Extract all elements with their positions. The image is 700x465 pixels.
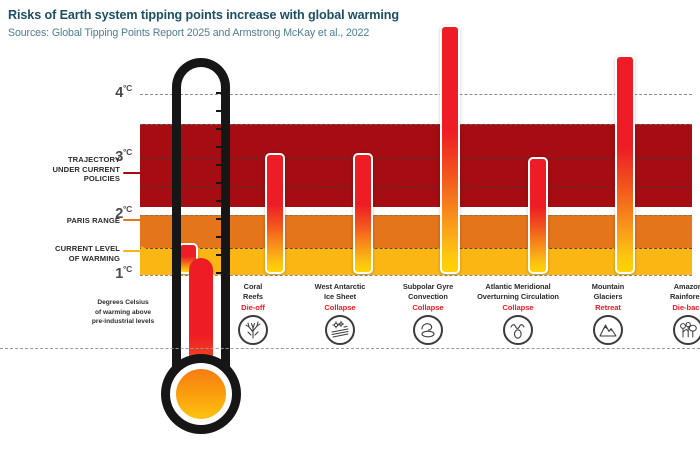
coral-icon[interactable]: [238, 315, 268, 345]
thermometer-tick-5: [216, 164, 224, 166]
annotation-paris-line1: PARIS RANGE: [28, 216, 120, 226]
rainforest-icon[interactable]: [673, 315, 700, 345]
thermometer-caption-line3: pre-industrial levels: [58, 317, 188, 327]
annotation-trajectory-under-current-policies: TRAJECTORY UNDER CURRENT POLICIES: [28, 155, 120, 184]
category-west-antarctic-ice-sheet[interactable]: West Antarctic Ice Sheet Collapse: [292, 282, 388, 345]
category-label-line2: Overturning Circulation: [462, 292, 574, 302]
thermometer-tick-8: [216, 218, 224, 220]
annotation-arrow-current: [123, 245, 151, 257]
thermometer-bulb-fill: [176, 369, 226, 419]
category-label-line2: Reefs: [205, 292, 301, 302]
category-west-antarctic-risk: Collapse: [292, 303, 388, 312]
annotation-trajectory-line1: TRAJECTORY: [28, 155, 120, 165]
thermometer-tick-1: [216, 92, 224, 94]
thermometer-tick-2: [216, 110, 224, 112]
bar-subpolar-gyre-convection[interactable]: [353, 153, 373, 274]
annotation-trajectory-line3: POLICIES: [28, 174, 120, 184]
category-amazon-rainforest[interactable]: Amazon Rainforest Die-back: [640, 282, 700, 345]
annotation-current-level-of-warming: CURRENT LEVEL OF WARMING: [20, 244, 120, 263]
annotation-current-line2: OF WARMING: [20, 254, 120, 264]
annotation-arrow-paris: [123, 214, 151, 226]
thermometer-tick-7: [216, 200, 224, 202]
category-coral-reefs[interactable]: Coral Reefs Die-off: [205, 282, 301, 345]
annotation-current-line1: CURRENT LEVEL: [20, 244, 120, 254]
category-label-line1: Atlantic Meridional: [462, 282, 574, 292]
axis-tick-4c-value: 4: [115, 85, 123, 101]
degree-unit-4: °C: [123, 83, 132, 93]
thermometer-tick-6: [216, 182, 224, 184]
thermometer: Degrees Celsius of warming above pre-ind…: [150, 58, 254, 430]
bar-mountain-glaciers[interactable]: [528, 157, 548, 274]
degree-unit-2: °C: [123, 204, 132, 214]
thermometer-tick-4: [216, 146, 224, 148]
chart-root: Risks of Earth system tipping points inc…: [0, 0, 700, 465]
category-amazon-rainforest-risk: Die-back: [640, 303, 700, 312]
page-subtitle: Sources: Global Tipping Points Report 20…: [8, 27, 668, 40]
category-label-line2: Ice Sheet: [292, 292, 388, 302]
category-atlantic-meridional-overturning-circulation[interactable]: Atlantic Meridional Overturning Circulat…: [462, 282, 574, 345]
category-amoc-label: Atlantic Meridional Overturning Circulat…: [462, 282, 574, 302]
axis-tick-1c: 1°C: [88, 266, 132, 282]
annotation-arrow-trajectory: [123, 167, 151, 179]
annotation-paris-range: PARIS RANGE: [28, 216, 120, 226]
glacier-icon[interactable]: [593, 315, 623, 345]
category-label-line1: West Antarctic: [292, 282, 388, 292]
page-title: Risks of Earth system tipping points inc…: [8, 8, 648, 23]
category-label-line1: Amazon: [640, 282, 700, 292]
bar-amazon-rainforest[interactable]: [615, 55, 635, 274]
bar-atlantic-meridional-overturning-circulation[interactable]: [440, 25, 460, 274]
thermometer-tick-3: [216, 128, 224, 130]
axis-tick-4c: 4°C: [88, 85, 132, 101]
axis-tick-1c-value: 1: [115, 266, 123, 282]
category-label-line1: Coral: [205, 282, 301, 292]
bar-west-antarctic-ice-sheet[interactable]: [265, 153, 285, 274]
degree-unit-3: °C: [123, 147, 132, 157]
thermometer-tick-10: [216, 254, 224, 256]
amoc-icon[interactable]: [503, 315, 533, 345]
thermometer-caption-line2: of warming above: [58, 308, 188, 318]
thermometer-caption: Degrees Celsius of warming above pre-ind…: [58, 298, 188, 327]
degree-unit-1: °C: [123, 264, 132, 274]
category-coral-reefs-risk: Die-off: [205, 303, 301, 312]
category-coral-reefs-label: Coral Reefs: [205, 282, 301, 302]
ice-sheet-icon[interactable]: [325, 315, 355, 345]
category-west-antarctic-label: West Antarctic Ice Sheet: [292, 282, 388, 302]
thermometer-tick-9: [216, 236, 224, 238]
gyre-icon[interactable]: [413, 315, 443, 345]
category-label-line2: Rainforest: [640, 292, 700, 302]
baseline-gridline: [0, 348, 700, 349]
annotation-trajectory-line2: UNDER CURRENT: [28, 165, 120, 175]
category-amazon-rainforest-label: Amazon Rainforest: [640, 282, 700, 302]
category-amoc-risk: Collapse: [462, 303, 574, 312]
thermometer-tick-11: [216, 272, 224, 274]
thermometer-caption-line1: Degrees Celsius: [58, 298, 188, 308]
